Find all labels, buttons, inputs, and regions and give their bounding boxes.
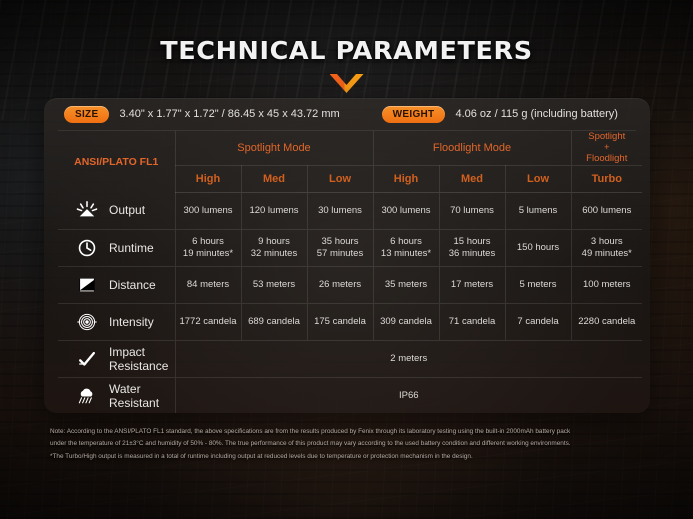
row-label-distance: Distance [58, 266, 175, 303]
subheader-spot-med: Med [241, 165, 307, 192]
row-label-text: Output [109, 203, 145, 217]
group-header-spotlight-floodlight: Spotlight + Floodlight [571, 131, 642, 165]
row-label-impact-resistance: Impact Resistance [58, 340, 175, 377]
cell-output-spot-med: 120 lumens [241, 192, 307, 229]
cell-runtime-spot-med: 9 hours 32 minutes [241, 229, 307, 266]
subheader-turbo: Turbo [571, 165, 642, 192]
cell-runtime-flood-med: 15 hours 36 minutes [439, 229, 505, 266]
row-label-water-resistant: Water Resistant [58, 377, 175, 413]
value-line1: 15 hours [454, 236, 491, 247]
table-header-groups: ANSI/PLATO FL1 Spotlight Mode Floodlight… [58, 131, 642, 165]
cell-distance-flood-low: 5 meters [505, 266, 571, 303]
cell-distance-spot-med: 53 meters [241, 266, 307, 303]
cell-output-spot-high: 300 lumens [175, 192, 241, 229]
header: TECHNICAL PARAMETERS [0, 36, 693, 93]
subheader-flood-med: Med [439, 165, 505, 192]
group-header-spotlight: Spotlight Mode [175, 131, 373, 165]
footnote-line-3: *The Turbo/High output is measured in a … [50, 451, 650, 463]
cell-intensity-turbo: 2280 candela [571, 303, 642, 340]
size-badge: SIZE [64, 106, 109, 123]
group-header-line3: Floodlight [586, 153, 627, 164]
cell-distance-turbo: 100 meters [571, 266, 642, 303]
size-value: 3.40" x 1.77" x 1.72" / 86.45 x 45 x 43.… [119, 108, 339, 120]
rain-cloud-icon [76, 386, 98, 406]
footnote: Note: According to the ANSI/PLATO FL1 st… [50, 426, 650, 463]
subheader-spot-low: Low [307, 165, 373, 192]
value-line1: 6 hours [390, 236, 422, 247]
subheader-flood-low: Low [505, 165, 571, 192]
row-label-text: Distance [109, 278, 156, 292]
weight-badge: WEIGHT [382, 106, 446, 123]
table-row-runtime: Runtime 6 hours 19 minutes* 9 hours 32 m… [58, 229, 642, 266]
cell-runtime-spot-high: 6 hours 19 minutes* [175, 229, 241, 266]
group-header-line2: + [604, 142, 610, 153]
cell-output-flood-high: 300 lumens [373, 192, 439, 229]
specifications-table: ANSI/PLATO FL1 Spotlight Mode Floodlight… [58, 131, 642, 413]
cell-runtime-turbo: 3 hours 49 minutes* [571, 229, 642, 266]
size-weight-row: SIZE 3.40" x 1.77" x 1.72" / 86.45 x 45 … [58, 98, 636, 131]
value-line1: 9 hours [258, 236, 290, 247]
cell-runtime-spot-low: 35 hours 57 minutes [307, 229, 373, 266]
cell-intensity-spot-high: 1772 candela [175, 303, 241, 340]
value-line2: 32 minutes [251, 248, 297, 259]
cell-intensity-spot-low: 175 candela [307, 303, 373, 340]
page-title: TECHNICAL PARAMETERS [0, 36, 693, 65]
cell-distance-flood-high: 35 meters [373, 266, 439, 303]
cell-output-turbo: 600 lumens [571, 192, 642, 229]
cell-distance-spot-low: 26 meters [307, 266, 373, 303]
cell-intensity-flood-med: 71 candela [439, 303, 505, 340]
spec-panel: SIZE 3.40" x 1.77" x 1.72" / 86.45 x 45 … [44, 98, 650, 413]
value-line1: 3 hours [591, 236, 623, 247]
table-row-intensity: Intensity 1772 candela 689 candela 175 c… [58, 303, 642, 340]
cell-impact-resistance-value: 2 meters [175, 340, 642, 377]
value-line1: 6 hours [192, 236, 224, 247]
value-line1: 35 hours [322, 236, 359, 247]
subheader-flood-high: High [373, 165, 439, 192]
cell-output-spot-low: 30 lumens [307, 192, 373, 229]
footnote-line-2: under the temperature of 21±3°C and humi… [50, 438, 650, 450]
row-label-output: Output [58, 192, 175, 229]
cell-runtime-flood-low: 150 hours [505, 229, 571, 266]
group-header-line1: Spotlight [588, 131, 625, 142]
beam-distance-icon [76, 275, 98, 295]
row-label-text: Runtime [109, 241, 154, 255]
table-row-water-resistant: Water Resistant IP66 [58, 377, 642, 413]
row-label-runtime: Runtime [58, 229, 175, 266]
footnote-line-1: Note: According to the ANSI/PLATO FL1 st… [50, 426, 650, 438]
value-line2: 19 minutes* [183, 248, 233, 259]
value-line2: 36 minutes [449, 248, 495, 259]
chevron-down-icon [330, 74, 364, 93]
cell-intensity-spot-med: 689 candela [241, 303, 307, 340]
table-row-distance: Distance 84 meters 53 meters 26 meters 3… [58, 266, 642, 303]
page-root: TECHNICAL PARAMETERS SIZE 3.40" x 1.77" … [0, 0, 693, 519]
clock-icon [76, 238, 98, 258]
cell-runtime-flood-high: 6 hours 13 minutes* [373, 229, 439, 266]
row-label-intensity: Intensity [58, 303, 175, 340]
row-label-text: Intensity [109, 315, 154, 329]
cell-distance-spot-high: 84 meters [175, 266, 241, 303]
cell-intensity-flood-high: 309 candela [373, 303, 439, 340]
row-label-text: Impact Resistance [109, 345, 175, 373]
target-intensity-icon [76, 312, 98, 332]
row-label-text: Water Resistant [109, 382, 175, 410]
cell-intensity-flood-low: 7 candela [505, 303, 571, 340]
sunburst-icon [76, 200, 98, 220]
ansi-standard-label: ANSI/PLATO FL1 [58, 131, 175, 192]
value-line2: 13 minutes* [381, 248, 431, 259]
impact-check-icon [76, 349, 98, 369]
value-line2: 49 minutes* [582, 248, 632, 259]
cell-water-resistant-value: IP66 [175, 377, 642, 413]
subheader-spot-high: High [175, 165, 241, 192]
cell-output-flood-med: 70 lumens [439, 192, 505, 229]
table-row-output: Output 300 lumens 120 lumens 30 lumens 3… [58, 192, 642, 229]
weight-value: 4.06 oz / 115 g (including battery) [455, 108, 617, 120]
cell-distance-flood-med: 17 meters [439, 266, 505, 303]
group-header-floodlight: Floodlight Mode [373, 131, 571, 165]
cell-output-flood-low: 5 lumens [505, 192, 571, 229]
table-row-impact-resistance: Impact Resistance 2 meters [58, 340, 642, 377]
value-line2: 57 minutes [317, 248, 363, 259]
